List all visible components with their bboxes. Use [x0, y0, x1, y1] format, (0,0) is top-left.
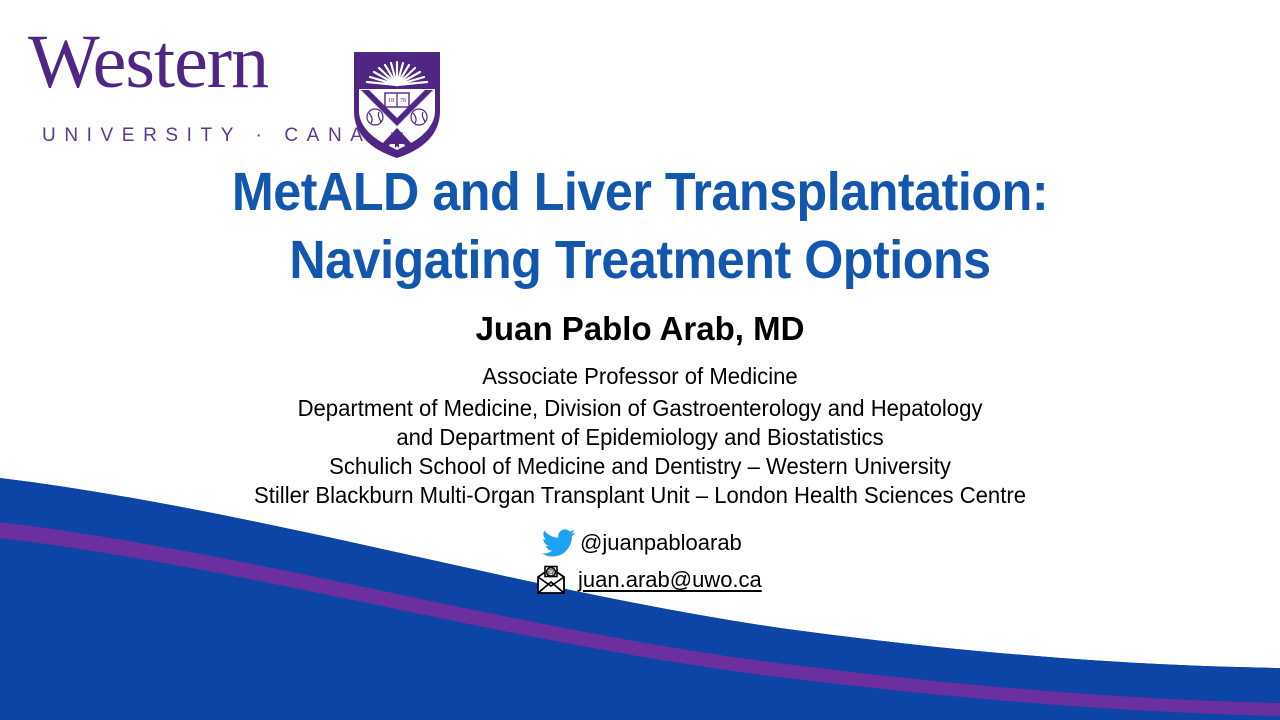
- contact-block: @juanpabloarab @ juan.arab@uwo.ca: [0, 524, 1280, 598]
- twitter-contact-row[interactable]: @juanpabloarab: [0, 524, 1280, 562]
- affiliation-line: and Department of Epidemiology and Biost…: [26, 423, 1255, 452]
- affiliation-block: Associate Professor of Medicine Departme…: [0, 362, 1280, 510]
- svg-text:78: 78: [400, 98, 406, 104]
- presenter-name: Juan Pablo Arab, MD: [0, 308, 1280, 350]
- affiliation-line: Associate Professor of Medicine: [26, 362, 1255, 391]
- presentation-slide: Western UNIVERSITY · CANADA: [0, 0, 1280, 720]
- svg-text:18: 18: [388, 98, 394, 104]
- western-university-logo: Western UNIVERSITY · CANADA: [20, 22, 440, 142]
- affiliation-line: Stiller Blackburn Multi-Organ Transplant…: [26, 481, 1255, 510]
- twitter-handle[interactable]: @juanpabloarab: [580, 530, 742, 556]
- twitter-bird-icon: [538, 529, 580, 557]
- affiliation-line: Schulich School of Medicine and Dentistr…: [26, 452, 1255, 481]
- title-line-2: Navigating Treatment Options: [45, 226, 1235, 294]
- western-shield-icon: 18 78: [351, 49, 443, 161]
- title-line-1: MetALD and Liver Transplantation:: [45, 158, 1235, 226]
- logo-wordmark: Western: [28, 24, 268, 100]
- svg-text:@: @: [547, 570, 554, 577]
- affiliation-line: Department of Medicine, Division of Gast…: [26, 394, 1255, 423]
- slide-title: MetALD and Liver Transplantation: Naviga…: [0, 158, 1280, 294]
- email-contact-row[interactable]: @ juan.arab@uwo.ca: [0, 562, 1280, 598]
- email-address[interactable]: juan.arab@uwo.ca: [578, 567, 762, 593]
- email-envelope-icon: @: [530, 565, 572, 595]
